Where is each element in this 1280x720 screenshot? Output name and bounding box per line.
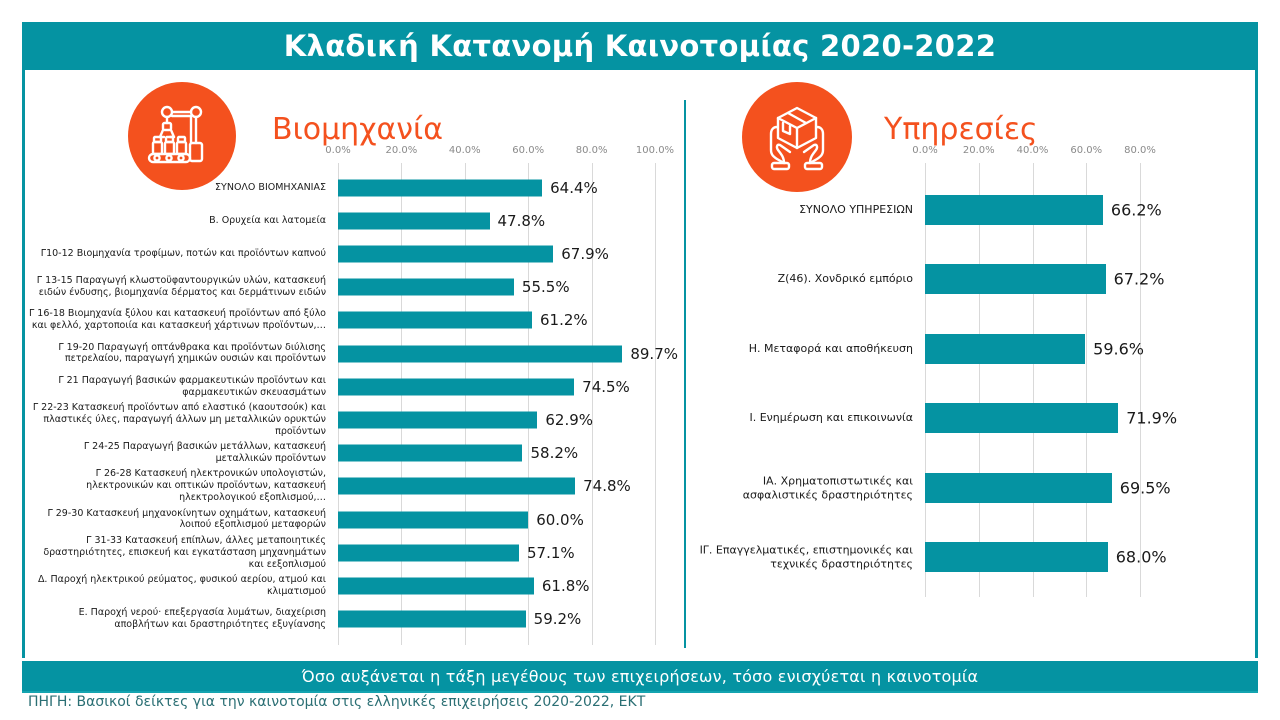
footer-message: Όσο αυξάνεται η τάξη μεγέθους των επιχει…: [302, 667, 979, 686]
bar: [338, 312, 532, 329]
bar-value-label: 64.4%: [550, 179, 598, 197]
x-axis-tick-label: 40.0%: [1017, 145, 1049, 156]
bar-value-label: 69.5%: [1120, 478, 1171, 497]
category-label: Η. Μεταφορά και αποθήκευση: [691, 342, 913, 356]
category-label: ΣΥΝΟΛΟ ΒΙΟΜΗΧΑΝΙΑΣ: [26, 182, 326, 194]
category-label: Γ 29-30 Κατασκευή μηχανοκίνητων οχημάτων…: [26, 508, 326, 532]
category-label: Γ 16-18 Βιομηχανία ξύλου και κατασκευή π…: [26, 309, 326, 333]
bar: [925, 264, 1106, 294]
bar-row: Ζ(46). Χονδρικό εμπόριο67.2%: [692, 245, 1252, 315]
bar: [338, 511, 528, 528]
bar: [338, 577, 534, 594]
category-label: Δ. Παροχή ηλεκτρικού ρεύματος, φυσικού α…: [26, 574, 326, 598]
category-label: Γ 24-25 Παραγωγή βασικών μετάλλων, κατασ…: [26, 441, 326, 465]
bar: [338, 611, 526, 628]
bar: [925, 195, 1103, 225]
bar-value-label: 89.7%: [630, 345, 678, 363]
bar-row: Β. Ορυχεία και λατομεία47.8%: [26, 204, 676, 237]
bar-value-label: 66.2%: [1111, 200, 1162, 219]
category-label: Ζ(46). Χονδρικό εμπόριο: [691, 272, 913, 286]
chart-services: 0.0%20.0%40.0%60.0%80.0%ΣΥΝΟΛΟ ΥΠΗΡΕΣΙΩΝ…: [692, 145, 1252, 615]
x-axis: 0.0%20.0%40.0%60.0%80.0%: [692, 145, 1252, 163]
bar-row: ΣΥΝΟΛΟ ΥΠΗΡΕΣΙΩΝ66.2%: [692, 175, 1252, 245]
bar-value-label: 58.2%: [530, 444, 578, 462]
category-label: Β. Ορυχεία και λατομεία: [26, 215, 326, 227]
panel-title-services: Υπηρεσίες: [884, 112, 1038, 147]
source-line: ΠΗΓΗ: Βασικοί δείκτες για την καινοτομία…: [28, 694, 645, 710]
category-label: Ι. Ενημέρωση και επικοινωνία: [691, 411, 913, 425]
bar-row: Ι. Ενημέρωση και επικοινωνία71.9%: [692, 384, 1252, 454]
bar: [338, 411, 537, 428]
bar-row: ΙΓ. Επαγγελματικές, επιστημονικές και τε…: [692, 523, 1252, 593]
footer-rule: [22, 691, 1258, 693]
x-axis: 0.0%20.0%40.0%60.0%80.0%100.0%: [26, 145, 676, 163]
bar-value-label: 59.2%: [534, 610, 582, 628]
bar-value-label: 60.0%: [536, 511, 584, 529]
bar-row: Γ 21 Παραγωγή βασικών φαρμακευτικών προϊ…: [26, 370, 676, 403]
bar-row: Ε. Παροχή νερού· επεξεργασία λυμάτων, δι…: [26, 603, 676, 636]
category-label: ΣΥΝΟΛΟ ΥΠΗΡΕΣΙΩΝ: [691, 203, 913, 217]
bar: [925, 473, 1112, 503]
bar: [338, 544, 519, 561]
bar: [338, 179, 542, 196]
bar-rows: ΣΥΝΟΛΟ ΥΠΗΡΕΣΙΩΝ66.2%Ζ(46). Χονδρικό εμπ…: [692, 175, 1252, 592]
bar-row: Γ 26-28 Κατασκευή ηλεκτρονικών υπολογιστ…: [26, 470, 676, 503]
category-label: Γ 22-23 Κατασκευή προϊόντων από ελαστικό…: [26, 402, 326, 438]
bar-value-label: 74.8%: [583, 477, 631, 495]
bar: [925, 542, 1108, 572]
bar: [925, 403, 1118, 433]
x-axis-tick-label: 0.0%: [325, 145, 350, 156]
bar: [338, 279, 514, 296]
bar-value-label: 61.8%: [542, 577, 590, 595]
x-axis-tick-label: 60.0%: [512, 145, 544, 156]
bar-value-label: 57.1%: [527, 544, 575, 562]
x-axis-tick-label: 0.0%: [912, 145, 937, 156]
infographic-poster: Κλαδική Κατανομή Καινοτομίας 2020-2022: [0, 0, 1280, 720]
bar-row: Γ 16-18 Βιομηχανία ξύλου και κατασκευή π…: [26, 304, 676, 337]
bar-row: Γ 24-25 Παραγωγή βασικών μετάλλων, κατασ…: [26, 437, 676, 470]
bar-rows: ΣΥΝΟΛΟ ΒΙΟΜΗΧΑΝΙΑΣ64.4%Β. Ορυχεία και λα…: [26, 171, 676, 636]
category-label: Γ 13-15 Παραγωγή κλωστοϋφαντουργικών υλώ…: [26, 275, 326, 299]
bar-row: ΣΥΝΟΛΟ ΒΙΟΜΗΧΑΝΙΑΣ64.4%: [26, 171, 676, 204]
bar-value-label: 67.2%: [1114, 270, 1165, 289]
category-label: ΙΓ. Επαγγελματικές, επιστημονικές και τε…: [691, 544, 913, 572]
x-axis-tick-label: 40.0%: [449, 145, 481, 156]
category-label: Γ 26-28 Κατασκευή ηλεκτρονικών υπολογιστ…: [26, 469, 326, 505]
bar-row: Γ 22-23 Κατασκευή προϊόντων από ελαστικό…: [26, 403, 676, 436]
bar-row: Γ 19-20 Παραγωγή οπτάνθρακα και προϊόντω…: [26, 337, 676, 370]
bar-value-label: 55.5%: [522, 278, 570, 296]
bar: [338, 245, 553, 262]
bar-value-label: 59.6%: [1093, 339, 1144, 358]
category-label: Ε. Παροχή νερού· επεξεργασία λυμάτων, δι…: [26, 607, 326, 631]
footer-banner: Όσο αυξάνεται η τάξη μεγέθους των επιχει…: [22, 661, 1258, 691]
bar-value-label: 67.9%: [561, 245, 609, 263]
category-label: Γ 19-20 Παραγωγή οπτάνθρακα και προϊόντω…: [26, 342, 326, 366]
x-axis-tick-label: 60.0%: [1070, 145, 1102, 156]
bar-value-label: 71.9%: [1126, 409, 1177, 428]
bar-row: Γ10-12 Βιομηχανία τροφίμων, ποτών και πρ…: [26, 237, 676, 270]
bar-row: Η. Μεταφορά και αποθήκευση59.6%: [692, 314, 1252, 384]
bar-value-label: 74.5%: [582, 378, 630, 396]
bar-value-label: 62.9%: [545, 411, 593, 429]
category-label: Γ10-12 Βιομηχανία τροφίμων, ποτών και πρ…: [26, 248, 326, 260]
panel-divider: [684, 100, 686, 648]
bar-row: ΙΑ. Χρηματοπιστωτικές και ασφαλιστικές δ…: [692, 453, 1252, 523]
category-label: Γ 31-33 Κατασκευή επίπλων, άλλες μεταποι…: [26, 535, 326, 571]
bar: [338, 445, 522, 462]
x-axis-tick-label: 80.0%: [1124, 145, 1156, 156]
page-title: Κλαδική Κατανομή Καινοτομίας 2020-2022: [284, 29, 996, 63]
x-axis-tick-label: 20.0%: [963, 145, 995, 156]
x-axis-tick-label: 20.0%: [386, 145, 418, 156]
bar: [338, 378, 574, 395]
bar-row: Γ 29-30 Κατασκευή μηχανοκίνητων οχημάτων…: [26, 503, 676, 536]
bar-row: Γ 13-15 Παραγωγή κλωστοϋφαντουργικών υλώ…: [26, 271, 676, 304]
bar: [338, 478, 575, 495]
bar-row: Δ. Παροχή ηλεκτρικού ρεύματος, φυσικού α…: [26, 569, 676, 602]
bar: [925, 334, 1085, 364]
bar: [338, 212, 490, 229]
category-label: ΙΑ. Χρηματοπιστωτικές και ασφαλιστικές δ…: [691, 474, 913, 502]
bar-value-label: 47.8%: [498, 212, 546, 230]
bar: [338, 345, 622, 362]
header-banner: Κλαδική Κατανομή Καινοτομίας 2020-2022: [22, 22, 1258, 70]
category-label: Γ 21 Παραγωγή βασικών φαρμακευτικών προϊ…: [26, 375, 326, 399]
panel-title-industry: Βιομηχανία: [272, 112, 443, 147]
bar-value-label: 68.0%: [1116, 548, 1167, 567]
chart-industry: 0.0%20.0%40.0%60.0%80.0%100.0%ΣΥΝΟΛΟ ΒΙΟ…: [26, 145, 676, 645]
bar-row: Γ 31-33 Κατασκευή επίπλων, άλλες μεταποι…: [26, 536, 676, 569]
bar-value-label: 61.2%: [540, 311, 588, 329]
x-axis-tick-label: 80.0%: [576, 145, 608, 156]
x-axis-tick-label: 100.0%: [636, 145, 674, 156]
